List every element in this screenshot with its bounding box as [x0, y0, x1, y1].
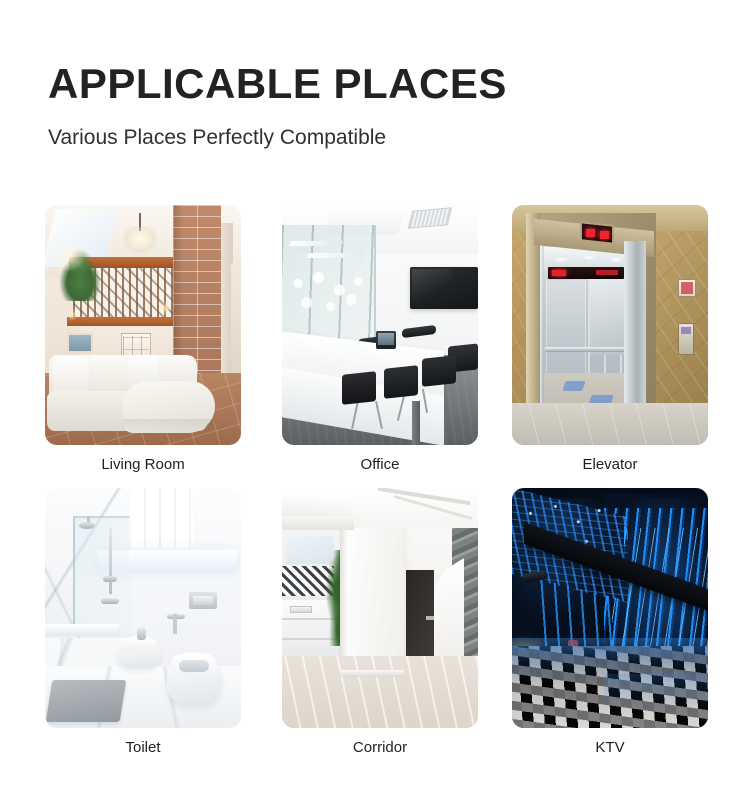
place-label-living-room: Living Room	[45, 455, 241, 475]
place-label-toilet: Toilet	[45, 738, 241, 758]
place-card-elevator[interactable]: Elevator	[512, 205, 708, 445]
place-image-ktv	[512, 488, 708, 728]
place-card-living-room[interactable]: Living Room	[45, 205, 241, 445]
place-image-toilet	[45, 488, 241, 728]
place-image-living-room	[45, 205, 241, 445]
place-image-corridor	[282, 488, 478, 728]
place-image-office	[282, 205, 478, 445]
place-card-toilet[interactable]: Toilet	[45, 488, 241, 728]
place-label-elevator: Elevator	[512, 455, 708, 475]
place-card-ktv[interactable]: KTV	[512, 488, 708, 728]
place-label-office: Office	[282, 455, 478, 475]
places-grid: Living Room Office	[0, 0, 750, 800]
place-card-corridor[interactable]: Corridor	[282, 488, 478, 728]
place-image-elevator	[512, 205, 708, 445]
place-label-corridor: Corridor	[282, 738, 478, 758]
place-card-office[interactable]: Office	[282, 205, 478, 445]
place-label-ktv: KTV	[512, 738, 708, 758]
